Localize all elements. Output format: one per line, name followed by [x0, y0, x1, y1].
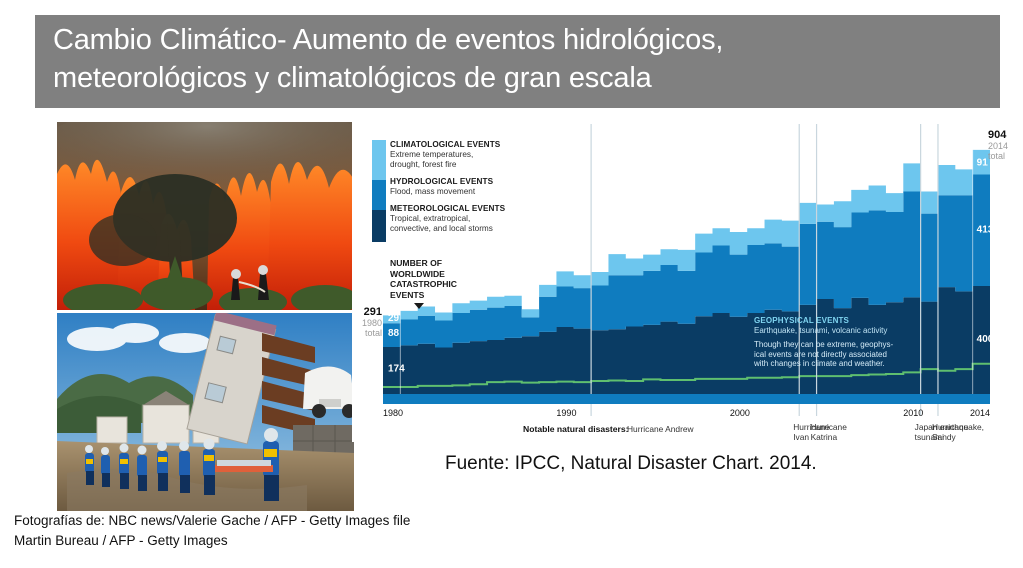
geophysical-body: Though they can be extreme, geophys- ica… [754, 340, 929, 369]
wildfire-photo [57, 122, 354, 310]
slide-title-banner: Cambio Climático- Aumento de eventos hid… [35, 15, 1000, 108]
band-value-label: 29 [388, 313, 400, 324]
down-arrow-icon [414, 303, 424, 309]
legend-swatch-0 [372, 140, 386, 180]
legend-subtitle: Tropical, extratropical, convective, and… [390, 214, 550, 234]
legend-title: METEOROLOGICAL EVENTS [390, 204, 550, 214]
legend-title: CLIMATOLOGICAL EVENTS [390, 140, 550, 150]
notable-disasters-label: Notable natural disasters: [523, 424, 629, 434]
flood-illustration [57, 313, 354, 511]
total-2014: 904 2014 total [988, 129, 1023, 161]
total-value: 291 [352, 306, 382, 318]
band-value-label: 400 [977, 334, 994, 345]
source-caption: Fuente: IPCC, Natural Disaster Chart. 20… [445, 453, 817, 475]
disaster-label: Hurricane [811, 422, 848, 432]
legend-swatch-2 [372, 210, 386, 242]
x-tick-label: 1980 [383, 408, 403, 418]
legend-item-hydrological: HYDROLOGICAL EVENTS Flood, mass movement [390, 177, 550, 197]
axis-baseline-band [383, 394, 990, 404]
x-tick-label: 2000 [730, 408, 750, 418]
legend-swatch-1 [372, 180, 386, 210]
photo-credits: Fotografías de: NBC news/Valerie Gache /… [14, 511, 514, 551]
total-caption: 2014 total [988, 141, 1023, 161]
disaster-label: Ivan [793, 432, 809, 442]
legend-subtitle: Extreme temperatures, drought, forest fi… [390, 150, 550, 170]
flood-rescue-photo [57, 313, 354, 511]
band-value-label: 174 [388, 364, 405, 375]
geophysical-title: GEOPHYSICAL EVENTS [754, 316, 929, 326]
legend-title: HYDROLOGICAL EVENTS [390, 177, 550, 187]
total-1980: 291 1980 total [352, 306, 382, 338]
disaster-label: Sandy [932, 432, 957, 442]
chart-legend: CLIMATOLOGICAL EVENTS Extreme temperatur… [390, 140, 550, 241]
legend-subtitle: Flood, mass movement [390, 187, 550, 197]
band-value-label: 413 [977, 224, 994, 235]
disaster-label: Hurricane [932, 422, 969, 432]
band-value-label: 91 [977, 157, 989, 168]
total-caption: 1980 total [352, 318, 382, 338]
x-tick-label: 2010 [903, 408, 923, 418]
page-title: Cambio Climático- Aumento de eventos hid… [53, 21, 982, 97]
x-tick-label: 2014 [970, 408, 990, 418]
legend-item-climatological: CLIMATOLOGICAL EVENTS Extreme temperatur… [390, 140, 550, 170]
x-tick-label: 1990 [556, 408, 576, 418]
disaster-label: Katrina [811, 432, 838, 442]
wildfire-illustration [57, 122, 354, 310]
band-value-label: 88 [388, 328, 400, 339]
legend-item-meteorological: METEOROLOGICAL EVENTS Tropical, extratro… [390, 204, 550, 234]
geophysical-subtitle: Earthquake, tsunami, volcanic activity [754, 326, 929, 336]
total-value: 904 [988, 129, 1023, 141]
legend-swatch-column [372, 140, 386, 242]
disaster-label-andrew: Hurricane Andrew [627, 424, 695, 434]
geophysical-annotation: GEOPHYSICAL EVENTS Earthquake, tsunami, … [754, 316, 929, 369]
chart-y-axis-label: NUMBER OF WORLDWIDE CATASTROPHIC EVENTS [390, 258, 500, 300]
